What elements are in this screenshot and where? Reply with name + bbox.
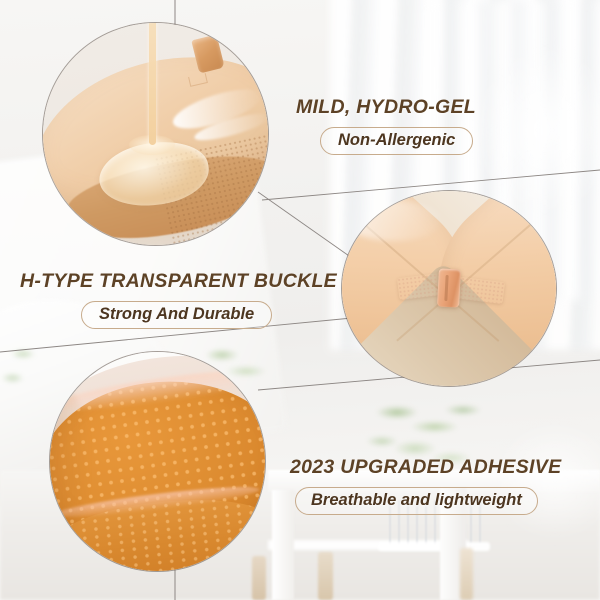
- feature-block-buckle: H-TYPE TRANSPARENT BUCKLE Strong And Dur…: [20, 270, 337, 329]
- feature-pill-hydrogel: Non-Allergenic: [320, 127, 473, 155]
- product-feature-infographic: MILD, HYDRO-GEL Non-Allergenic H-TYPE TR…: [0, 0, 600, 600]
- buckle-photo-highlight: [346, 201, 442, 241]
- gel-pour-stream: [149, 22, 156, 145]
- h-type-clasp: [437, 268, 461, 307]
- background-wood-leg-3: [460, 548, 473, 600]
- feature-pill-buckle: Strong And Durable: [81, 301, 272, 329]
- adhesive-dots-photo: [49, 351, 266, 572]
- feature-block-adhesive: 2023 UPGRADED ADHESIVE Breathable and li…: [290, 456, 561, 515]
- background-wood-leg-2: [318, 552, 333, 600]
- feature-pill-adhesive: Breathable and lightweight: [295, 487, 538, 515]
- background-glassware-tray: [378, 542, 490, 551]
- feature-title-hydrogel: MILD, HYDRO-GEL: [296, 96, 476, 119]
- h-buckle-photo: [341, 190, 557, 387]
- gel-pour-photo: [42, 22, 269, 246]
- feature-block-hydrogel: MILD, HYDRO-GEL Non-Allergenic: [296, 96, 476, 155]
- feature-title-buckle: H-TYPE TRANSPARENT BUCKLE: [20, 270, 337, 293]
- feature-title-adhesive: 2023 UPGRADED ADHESIVE: [290, 456, 561, 479]
